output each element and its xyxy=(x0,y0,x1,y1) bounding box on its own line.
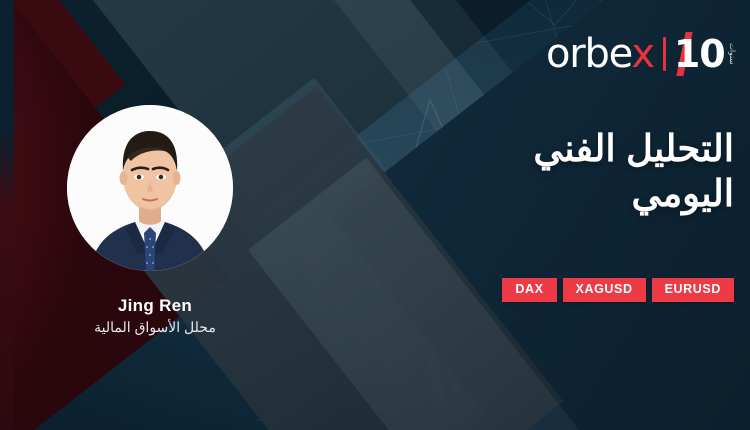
badge-xagusd[interactable]: XAGUSD xyxy=(563,278,646,302)
analyst-role: محلل الأسواق المالية xyxy=(0,319,310,336)
logo-divider-bar xyxy=(663,37,666,71)
orbex-logo[interactable]: orbex 10 سنوات xyxy=(546,30,736,78)
headline-line-2: اليومي xyxy=(314,171,734,216)
badge-dax[interactable]: DAX xyxy=(502,278,556,302)
badge-eurusd[interactable]: EURUSD xyxy=(652,278,734,302)
anniversary-label: سنوات xyxy=(728,43,736,65)
anniversary-mark: 10 xyxy=(674,35,725,73)
page-title: التحليل الفني اليومي xyxy=(314,126,734,216)
promo-banner: 1.07142 xyxy=(0,0,750,430)
logo-word-text: orbe xyxy=(546,31,631,77)
logo-wordmark: orbex xyxy=(546,34,654,74)
logo-word-accent: x xyxy=(631,31,653,77)
avatar xyxy=(67,105,233,271)
analyst-name: Jing Ren xyxy=(0,296,310,316)
instrument-badges: DAX XAGUSD EURUSD xyxy=(502,278,734,302)
person-info: Jing Ren محلل الأسواق المالية xyxy=(0,296,310,336)
anniversary-number: 10 xyxy=(674,32,725,76)
bg-left-strip xyxy=(0,0,14,430)
headline-line-1: التحليل الفني xyxy=(533,128,734,169)
